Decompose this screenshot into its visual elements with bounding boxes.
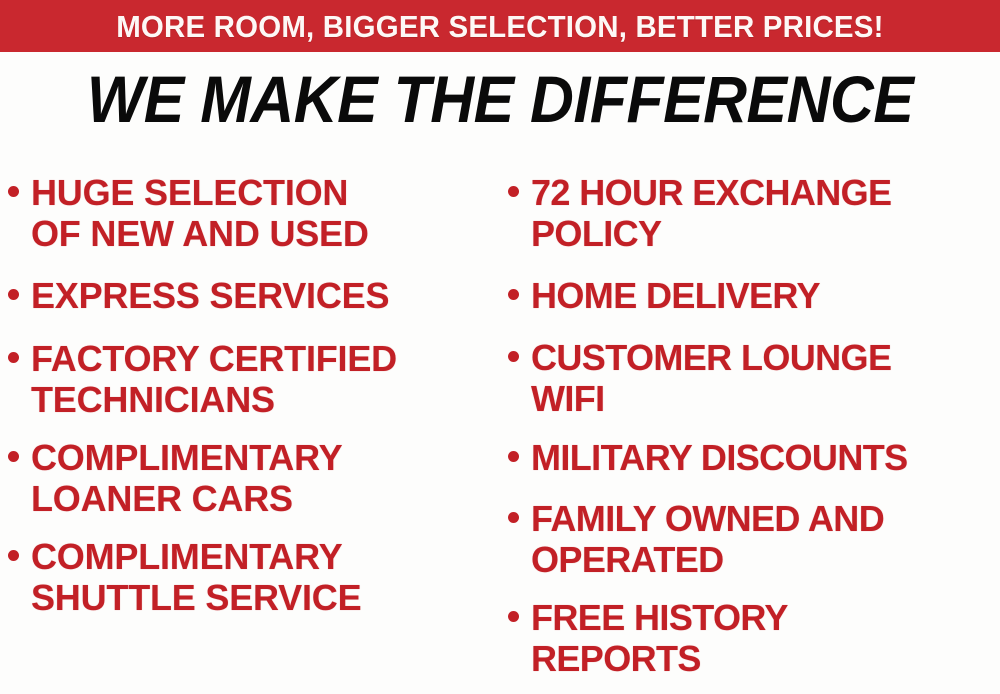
list-item: COMPLIMENTARY LOANER CARS [8,437,498,519]
list-item-label: 72 HOUR EXCHANGE POLICY [531,172,1000,254]
list-item: HOME DELIVERY [508,275,1000,316]
bullet-dot-icon [8,451,19,462]
list-item-label: MILITARY DISCOUNTS [531,437,1000,478]
promo-banner-text: MORE ROOM, BIGGER SELECTION, BETTER PRIC… [116,11,883,42]
list-item-label: FACTORY CERTIFIED TECHNICIANS [31,338,498,420]
list-item-label: COMPLIMENTARY LOANER CARS [31,437,498,519]
bullet-dot-icon [508,289,519,300]
list-item: FAMILY OWNED AND OPERATED [508,498,1000,580]
page-title: WE MAKE THE DIFFERENCE [87,64,913,134]
bullet-dot-icon [508,351,519,362]
list-item-label: FREE HISTORY REPORTS [531,597,1000,679]
bullet-dot-icon [8,186,19,197]
list-item: FREE HISTORY REPORTS [508,597,1000,679]
benefits-columns: HUGE SELECTION OF NEW AND USED EXPRESS S… [0,150,1000,694]
list-item-label: EXPRESS SERVICES [31,275,498,316]
list-item-label: FAMILY OWNED AND OPERATED [531,498,1000,580]
advertisement-plate: MORE ROOM, BIGGER SELECTION, BETTER PRIC… [0,0,1000,694]
benefits-column-right: 72 HOUR EXCHANGE POLICY HOME DELIVERY CU… [508,150,1000,694]
bullet-dot-icon [8,550,19,561]
list-item-label: HUGE SELECTION OF NEW AND USED [31,172,498,254]
list-item: MILITARY DISCOUNTS [508,437,1000,478]
bullet-dot-icon [8,352,19,363]
list-item: FACTORY CERTIFIED TECHNICIANS [8,338,498,420]
bullet-dot-icon [508,512,519,523]
list-item: CUSTOMER LOUNGE WIFI [508,337,1000,419]
list-item-label: HOME DELIVERY [531,275,1000,316]
bullet-dot-icon [508,186,519,197]
bullet-dot-icon [8,289,19,300]
promo-banner: MORE ROOM, BIGGER SELECTION, BETTER PRIC… [0,0,1000,52]
bullet-dot-icon [508,611,519,622]
bullet-dot-icon [508,451,519,462]
benefits-column-left: HUGE SELECTION OF NEW AND USED EXPRESS S… [8,150,498,694]
list-item-label: COMPLIMENTARY SHUTTLE SERVICE [31,536,498,618]
headline-area: WE MAKE THE DIFFERENCE [0,56,1000,142]
list-item: COMPLIMENTARY SHUTTLE SERVICE [8,536,498,618]
list-item: 72 HOUR EXCHANGE POLICY [508,172,1000,254]
list-item: HUGE SELECTION OF NEW AND USED [8,172,498,254]
list-item: EXPRESS SERVICES [8,275,498,316]
list-item-label: CUSTOMER LOUNGE WIFI [531,337,1000,419]
